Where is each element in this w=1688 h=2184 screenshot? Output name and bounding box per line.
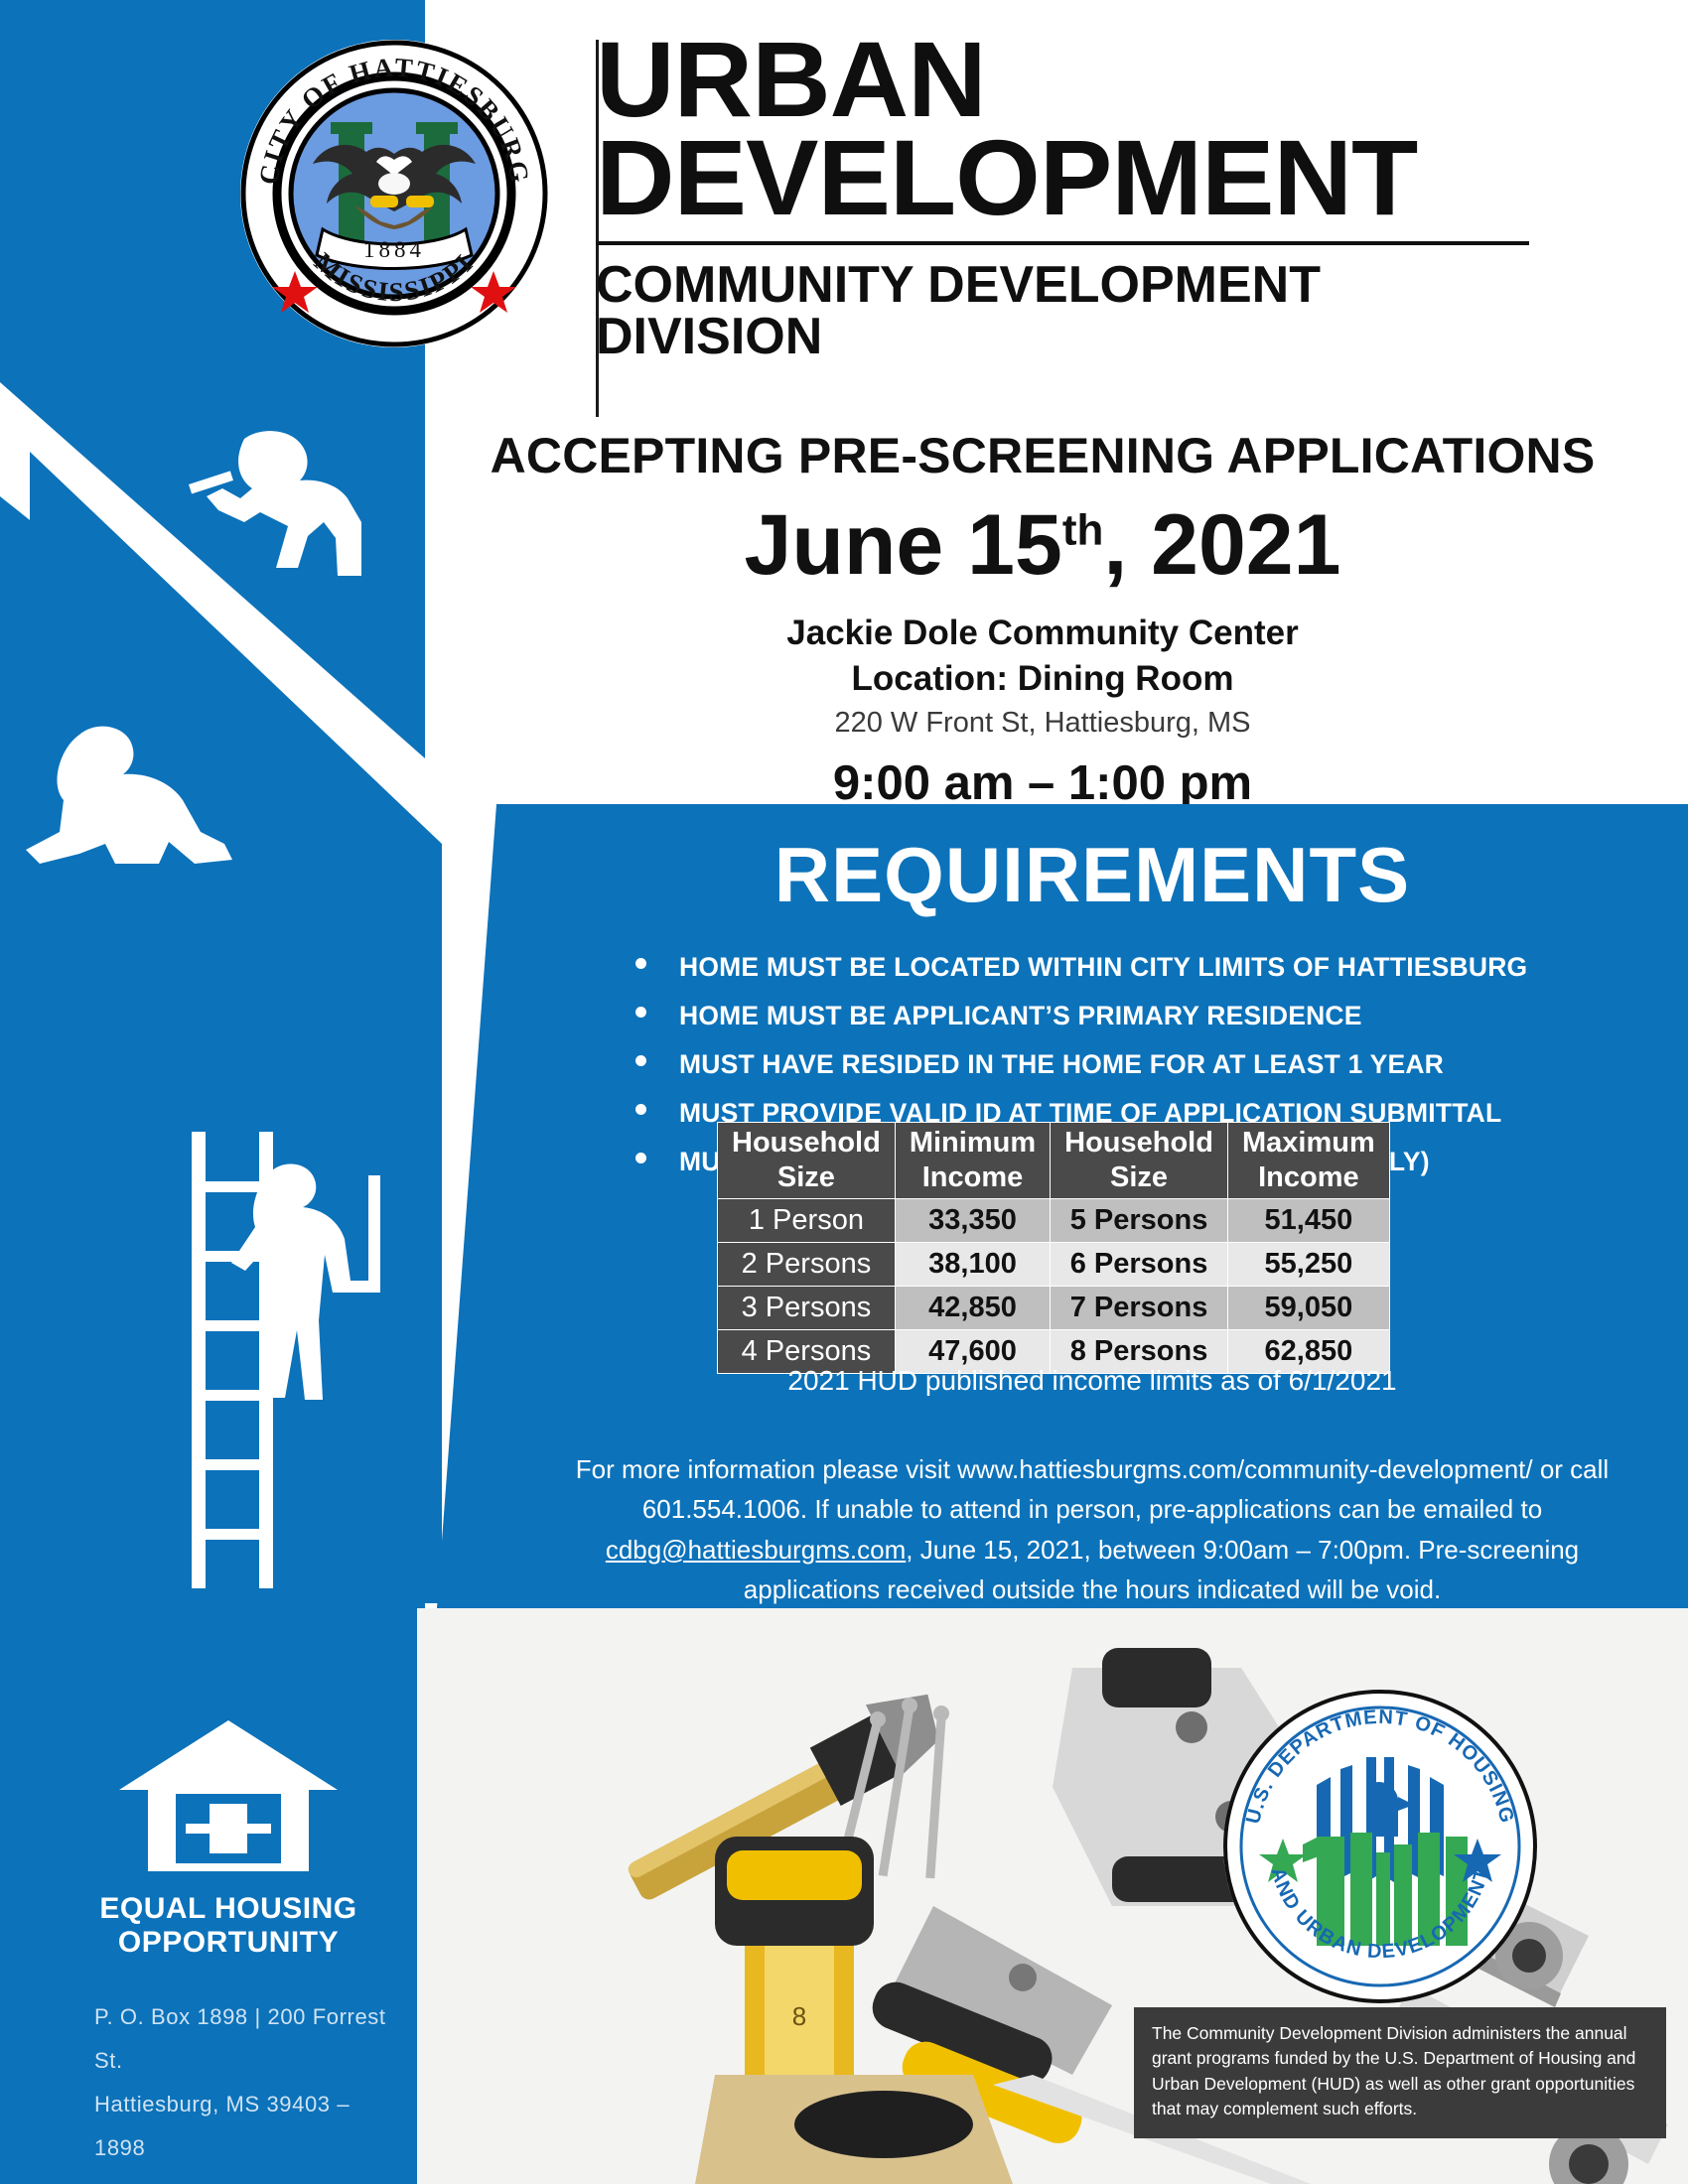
income-limits-table-wrapper: Household Minimum Household Maximum Size… [717,1122,1390,1374]
table-cell-min: 38,100 [895,1243,1050,1287]
table-header-cell: Maximum [1227,1123,1389,1162]
bullet-icon [635,1007,646,1018]
table-header-row-1: Household Minimum Household Maximum [718,1123,1390,1162]
contact-line-2-pre: unable to attend in person, pre-applicat… [836,1494,1542,1524]
requirement-text: HOME MUST BE LOCATED WITHIN CITY LIMITS … [679,952,1527,982]
table-cell-max: 51,450 [1227,1199,1389,1243]
table-header-cell: Household [718,1123,896,1162]
equal-housing-icon [114,1712,343,1881]
address-line-1: P. O. Box 1898 | 200 Forrest St. [94,1995,392,2083]
event-date: June 15th, 2021 [427,502,1658,588]
income-limits-table: Household Minimum Household Maximum Size… [717,1122,1390,1374]
table-row: 3 Persons 42,850 7 Persons 59,050 [718,1287,1390,1330]
table-header-cell: Size [718,1161,896,1199]
bullet-icon [635,1104,646,1115]
eho-line2: OPPORTUNITY [94,1926,362,1960]
masthead-title-line2: DEVELOPMENT [596,128,1609,226]
address-line-2: Hattiesburg, MS 39403 –1898 [94,2083,392,2170]
accepting-headline: ACCEPTING PRE-SCREENING APPLICATIONS [427,427,1658,484]
event-address: 220 W Front St, Hattiesburg, MS [427,707,1658,740]
bullet-icon [635,1153,646,1163]
hud-disclaimer-box: The Community Development Division admin… [1134,2007,1666,2138]
masthead-subtitle-line1: COMMUNITY DEVELOPMENT [596,259,1589,311]
masthead-horizontal-rule [596,241,1529,245]
seal-year: 1884 [363,237,425,262]
table-header-cell: Minimum [895,1123,1050,1162]
event-venue: Jackie Dole Community Center [427,614,1658,653]
table-header-cell: Income [895,1161,1050,1199]
table-cell-max: 55,250 [1227,1243,1389,1287]
bullet-icon [635,1055,646,1066]
requirement-item: HOME MUST BE LOCATED WITHIN CITY LIMITS … [635,952,1688,983]
requirements-panel: REQUIREMENTS HOME MUST BE LOCATED WITHIN… [496,804,1688,1608]
table-row: 2 Persons 38,100 6 Persons 55,250 [718,1243,1390,1287]
table-header-cell: Income [1227,1161,1389,1199]
table-cell-size2: 5 Persons [1051,1199,1228,1243]
roof-worker-silhouette [149,427,407,625]
requirement-text: MUST HAVE RESIDED IN THE HOME FOR AT LEA… [679,1049,1444,1079]
masthead-subtitle-line2: DIVISION [596,311,1589,362]
table-cell-size2: 6 Persons [1051,1243,1228,1287]
hud-seal-icon: U.S. DEPARTMENT OF HOUSING AND URBAN DEV… [1221,1688,1539,2005]
svg-text:8: 8 [792,2001,806,2031]
city-of-hattiesburg-seal-icon: 1884 CITY OF HATTIESBURG MISSISSIPPI [235,35,553,352]
income-table-note: 2021 HUD published income limits as of 6… [496,1365,1688,1397]
contact-line-2-post: , June 15, 2021, [906,1535,1090,1565]
table-cell-max: 59,050 [1227,1287,1389,1330]
table-cell-min: 42,850 [895,1287,1050,1330]
requirement-item: MUST HAVE RESIDED IN THE HOME FOR AT LEA… [635,1049,1688,1080]
table-header-row-2: Size Income Size Income [718,1161,1390,1199]
table-cell-size: 3 Persons [718,1287,896,1330]
event-room: Location: Dining Room [427,659,1658,699]
table-row: 1 Person 33,350 5 Persons 51,450 [718,1199,1390,1243]
ladder-worker-silhouette [174,1132,422,1588]
flyer-page: 1884 CITY OF HATTIESBURG MISSISSIPPI URB… [0,0,1688,2184]
kneeling-worker-silhouette [20,715,278,903]
requirement-text: HOME MUST BE APPLICANT’S PRIMARY RESIDEN… [679,1001,1362,1030]
requirement-item: HOME MUST BE APPLICANT’S PRIMARY RESIDEN… [635,1001,1688,1031]
eho-line1: EQUAL HOUSING [94,1892,362,1926]
event-details: ACCEPTING PRE-SCREENING APPLICATIONS Jun… [427,427,1658,811]
equal-housing-opportunity-logo: EQUAL HOUSING OPPORTUNITY [94,1712,362,1959]
requirements-title: REQUIREMENTS [496,830,1688,920]
table-header-cell: Size [1051,1161,1228,1199]
contact-email-link[interactable]: cdbg@hattiesburgms.com [606,1535,906,1565]
mailing-address: P. O. Box 1898 | 200 Forrest St. Hatties… [94,1995,392,2170]
event-time: 9:00 am – 1:00 pm [427,755,1658,811]
table-cell-size2: 7 Persons [1051,1287,1228,1330]
event-date-ordinal: th [1062,505,1104,554]
table-header-cell: Household [1051,1123,1228,1162]
table-cell-min: 33,350 [895,1199,1050,1243]
masthead-title-line1: URBAN [596,30,1609,128]
event-date-year: , 2021 [1103,497,1340,593]
bullet-icon [635,958,646,969]
eho-text: EQUAL HOUSING OPPORTUNITY [94,1892,362,1959]
masthead: URBAN DEVELOPMENT COMMUNITY DEVELOPMENT … [596,30,1589,362]
table-cell-size: 2 Persons [718,1243,896,1287]
event-date-main: June 15 [745,497,1062,593]
contact-paragraph: For more information please visit www.ha… [536,1449,1648,1609]
table-cell-size: 1 Person [718,1199,896,1243]
